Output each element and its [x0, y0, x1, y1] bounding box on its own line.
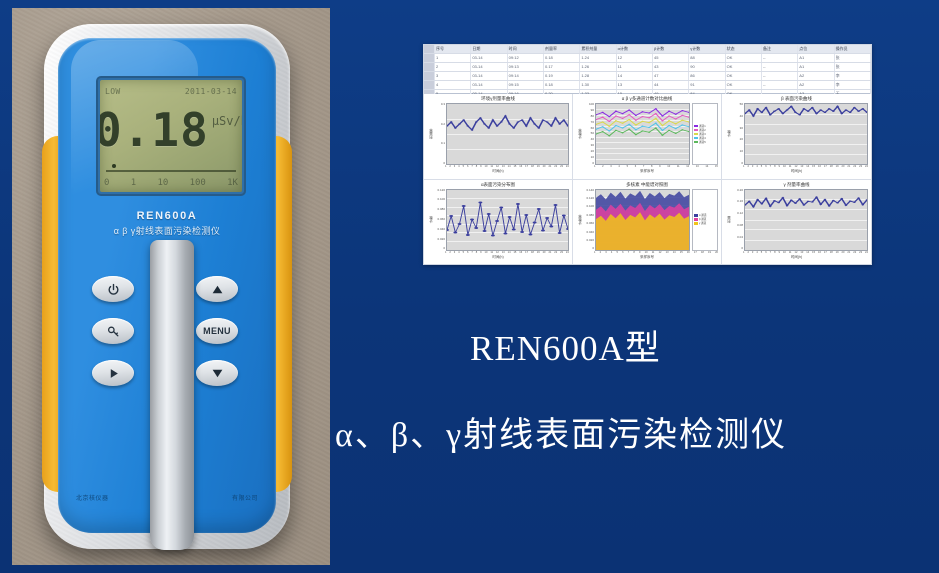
chart-x-tick: 13 [666, 251, 669, 255]
chart-title: 多核素 中能谱对照图 [576, 182, 718, 188]
device-footer-right: 有限公司 [232, 493, 258, 502]
chart-x-tick: 16 [687, 251, 690, 255]
chart-y-axis-label: 剂量 [725, 189, 731, 251]
lcd-status-left: LOW [105, 87, 121, 96]
chart-y-tick: 0.12 [737, 212, 743, 215]
chart-y-axis-label: 剂量率 [427, 103, 433, 165]
table-cell: -- [762, 63, 798, 71]
chart-x-tick: 9 [480, 251, 481, 255]
chart-x-tick: 3 [610, 165, 611, 169]
chart-x-tick: 15 [513, 251, 516, 255]
chart-x-tick: 21 [548, 251, 551, 255]
chart-x-tick: 18 [830, 165, 833, 169]
chart-y-tick: 10 [740, 150, 743, 153]
chart-y-tick: 0.3 [441, 103, 445, 106]
table-cell: 86 [689, 72, 725, 80]
lcd-status-right: 2011-03-14 [185, 87, 237, 96]
table-cell: 1.26 [580, 63, 616, 71]
chart-x-tick: 20 [543, 251, 546, 255]
keypad-column-right: MENU [186, 276, 248, 402]
table-cell: 09:14 [508, 72, 544, 80]
caption-description: α、β、γ射线表面污染检测仪 [335, 415, 935, 458]
chart-plot-area [595, 189, 690, 251]
arrow-down-icon [210, 367, 225, 380]
play-icon [107, 367, 120, 380]
chart-y-tick: 0.08 [737, 224, 743, 227]
chart-legend-label: α 通道 [699, 214, 706, 217]
chart-x-tick: 15 [812, 165, 815, 169]
table-column-header: 状态 [726, 45, 762, 53]
chart-x-tick: 14 [705, 165, 708, 169]
chart-y-ticks: 50403020100 [731, 103, 744, 165]
chart-x-tick: 7 [770, 165, 771, 169]
chart-x-tick: 14 [673, 251, 676, 255]
table-column-header: 时间 [508, 45, 544, 53]
chart-x-tick: 17 [525, 251, 528, 255]
chart-x-tick: 6 [765, 165, 766, 169]
chart-x-tick: 19 [836, 251, 839, 255]
chart-x-tick: 6 [622, 251, 623, 255]
chart-y-tick: 90 [591, 109, 594, 112]
table-row: 103-1409:120.181.24124588OK--A1张 [424, 54, 871, 63]
menu-button-label: MENU [203, 326, 231, 336]
chart-x-tick: 12 [795, 251, 798, 255]
device-label: REN600A α β γ射线表面污染检测仪 [58, 210, 276, 237]
chart-x-tick: 7 [770, 251, 771, 255]
chart-x-tick: 14 [806, 251, 809, 255]
chart-x-tick: 3 [752, 251, 753, 255]
chart-y-tick: 20 [591, 150, 594, 153]
chart-y-tick: 0.080 [437, 208, 445, 211]
lcd-bezel: LOW 2011-03-14 0.18 μSv/h 0 1 10 100 [96, 76, 246, 196]
chart-x-tick: 10 [667, 165, 670, 169]
chart-x-tick: 14 [508, 165, 511, 169]
table-cell: 11 [617, 63, 653, 71]
chart-x-tick: 12 [686, 165, 689, 169]
chart-legend-item: α 通道 [694, 214, 716, 217]
chart-legend-swatch [694, 218, 698, 221]
chart-x-tick: 24 [566, 165, 569, 169]
chart-x-tick: 12 [496, 251, 499, 255]
arrow-up-icon [210, 283, 225, 296]
table-column-header: 累积剂量 [580, 45, 616, 53]
chart-x-tick: 4 [611, 251, 612, 255]
lcd-unit: μSv/h [212, 114, 242, 128]
chart-y-tick: 0.020 [586, 239, 594, 242]
chart-x-tick: 2 [600, 251, 601, 255]
down-button[interactable] [196, 360, 238, 386]
chart-x-tick: 1 [743, 165, 744, 169]
table-cell: OK [726, 54, 762, 62]
chart-legend-item: β 通道 [694, 218, 716, 221]
table-cell: 03-14 [471, 72, 507, 80]
power-button[interactable] [92, 276, 134, 302]
table-cell: 0.19 [544, 72, 580, 80]
table-column-header: 日期 [471, 45, 507, 53]
chart-cell: β 表面污染曲线计数504030201001234567891011121314… [722, 94, 871, 180]
table-cell: OK [726, 63, 762, 71]
chart-x-tick: 22 [554, 251, 557, 255]
table-column-header: 剂量率 [544, 45, 580, 53]
chart-x-tick: 22 [853, 165, 856, 169]
chart-x-tick: 1 [445, 165, 446, 169]
table-cell: 09:15 [508, 81, 544, 89]
table-cell: 43 [653, 63, 689, 71]
table-cell: 44 [653, 81, 689, 89]
chart-x-tick: 12 [659, 251, 662, 255]
search-button[interactable] [92, 318, 134, 344]
table-column-header: β计数 [653, 45, 689, 53]
chart-y-tick: 0.060 [437, 218, 445, 221]
table-cell: 张 [835, 54, 871, 62]
chart-x-tick: 14 [508, 251, 511, 255]
chart-y-tick: 10 [591, 156, 594, 159]
table-cell: 09:12 [508, 54, 544, 62]
table-row: 203-1409:130.171.26114390OK--A1张 [424, 63, 871, 72]
chart-y-tick: 50 [591, 132, 594, 135]
chart-y-tick: 0.040 [586, 231, 594, 234]
chart-y-ticks: 0.30.20.10 [433, 103, 446, 165]
product-photo: LOW 2011-03-14 0.18 μSv/h 0 1 10 100 [12, 8, 330, 565]
chart-y-axis-label: 计数率 [576, 103, 582, 165]
chart-legend-label: 通道5 [699, 141, 706, 144]
table-cell: 1.28 [580, 72, 616, 80]
chart-x-tick: 19 [537, 251, 540, 255]
table-cell: 90 [689, 63, 725, 71]
menu-button[interactable]: MENU [196, 318, 238, 344]
chart-x-tick: 6 [635, 165, 636, 169]
chart-grid: 环境γ剂量率曲线剂量率0.30.20.101234567891011121314… [424, 94, 871, 265]
chart-x-tick: 15 [513, 165, 516, 169]
chart-y-tick: 60 [591, 127, 594, 130]
device-footer-left: 北京核仪器 [76, 493, 109, 502]
chart-x-tick: 7 [471, 251, 472, 255]
chart-x-tick: 1 [594, 251, 595, 255]
chart-x-tick: 23 [859, 251, 862, 255]
chart-x-tick: 5 [617, 251, 618, 255]
chart-x-tick: 23 [560, 165, 563, 169]
chart-cell: α β γ多通道计数对比曲线计数率1009080706050403020100通… [573, 94, 722, 180]
chart-x-tick: 1 [594, 165, 595, 169]
chart-x-tick: 10 [485, 251, 488, 255]
chart-y-tick: 0.1 [441, 142, 445, 145]
chart-x-tick: 3 [605, 251, 606, 255]
chart-x-tick: 5 [463, 165, 464, 169]
table-cell: 0.18 [544, 81, 580, 89]
chart-x-tick: 10 [485, 165, 488, 169]
chart-x-tick: 9 [779, 251, 780, 255]
chart-cell: 多核素 中能谱对照图计数率0.1400.1200.1000.0800.0600.… [573, 180, 722, 266]
chart-x-tick: 16 [519, 251, 522, 255]
chart-x-tick: 24 [865, 251, 868, 255]
lcd-bargraph-marker [112, 164, 116, 168]
chart-x-tick: 9 [779, 165, 780, 169]
chart-x-tick: 13 [696, 165, 699, 169]
lcd-scale-tick: 100 [190, 178, 206, 188]
chart-x-tick: 19 [708, 251, 711, 255]
chart-legend-swatch [694, 222, 698, 225]
chart-x-tick: 11 [490, 251, 493, 255]
chart-y-ticks: 0.1200.1000.0800.0600.0400.0200 [433, 189, 446, 251]
lcd-bargraph [106, 164, 236, 172]
chart-x-tick: 3 [454, 165, 455, 169]
table-cell: OK [726, 81, 762, 89]
chart-x-tick: 8 [774, 165, 775, 169]
table-column-header: 备注 [762, 45, 798, 53]
lcd-scale: 0 1 10 100 1K [104, 176, 238, 190]
chart-x-tick: 2 [747, 251, 748, 255]
play-button[interactable] [92, 360, 134, 386]
chart-legend-swatch [694, 133, 698, 136]
chart-x-tick: 16 [519, 165, 522, 169]
chart-legend-item: 通道2 [694, 129, 716, 132]
chart-x-tick: 2 [449, 251, 450, 255]
chart-x-tick: 6 [467, 251, 468, 255]
chart-legend-swatch [694, 129, 698, 132]
chart-legend: 通道1通道2通道3通道4通道5 [692, 103, 718, 165]
chart-x-tick: 7 [471, 165, 472, 169]
chart-x-tick: 8 [633, 251, 634, 255]
table-cell: 13 [617, 81, 653, 89]
chart-x-tick: 4 [458, 165, 459, 169]
chart-legend-swatch [694, 137, 698, 140]
lcd-reading: 0.18 μSv/h [100, 100, 242, 160]
chart-x-tick: 21 [847, 165, 850, 169]
lcd-value: 0.18 [100, 107, 209, 153]
chart-x-tick: 5 [627, 165, 628, 169]
chart-x-tick: 9 [659, 165, 660, 169]
chart-x-tick: 16 [818, 251, 821, 255]
chart-x-tick: 13 [800, 251, 803, 255]
chart-title: α表面污染分布图 [427, 182, 569, 188]
chart-x-tick: 8 [476, 251, 477, 255]
chart-y-axis-label: 计数 [427, 189, 433, 251]
table-cell: A1 [798, 54, 834, 62]
slide-canvas: LOW 2011-03-14 0.18 μSv/h 0 1 10 100 [0, 0, 939, 573]
chart-x-tick: 14 [806, 165, 809, 169]
chart-plot-area [446, 103, 569, 165]
chart-x-tick: 17 [824, 165, 827, 169]
chart-x-tick: 18 [830, 251, 833, 255]
chart-x-tick: 15 [812, 251, 815, 255]
chart-x-tick: 20 [842, 165, 845, 169]
chart-x-tick: 3 [454, 251, 455, 255]
table-cell: 09:13 [508, 63, 544, 71]
chart-x-tick: 18 [531, 165, 534, 169]
chart-x-tick: 10 [783, 165, 786, 169]
chart-y-ticks: 0.200.160.120.080.040 [731, 189, 744, 251]
table-cell: A2 [798, 72, 834, 80]
chart-y-tick: 30 [591, 144, 594, 147]
chart-legend-swatch [694, 214, 698, 217]
lcd-status-bar: LOW 2011-03-14 [105, 84, 237, 98]
table-cell: 1.30 [580, 81, 616, 89]
chart-plot-area [446, 189, 569, 251]
table-cell: 2 [435, 63, 471, 71]
chart-y-tick: 0.16 [737, 200, 743, 203]
table-row: 303-1409:140.191.28144786OK--A2李 [424, 72, 871, 81]
chart-y-tick: 40 [591, 138, 594, 141]
chart-y-ticks: 1009080706050403020100 [582, 103, 595, 165]
chart-y-tick: 50 [740, 103, 743, 106]
chart-x-axis-label: 采样序号 [576, 169, 718, 174]
chart-plot-area [744, 189, 868, 251]
table-cell: 03-14 [471, 54, 507, 62]
chart-x-tick: 2 [602, 165, 603, 169]
chart-x-tick: 15 [680, 251, 683, 255]
lcd-scale-tick: 10 [157, 178, 168, 188]
software-screenshot: 序号日期时间剂量率累积剂量α计数β计数γ计数状态备注点位操作员103-1409:… [423, 44, 872, 265]
lcd-scale-tick: 1 [131, 178, 136, 188]
table-cell: 12 [617, 54, 653, 62]
chart-y-tick: 0.080 [586, 214, 594, 217]
table-cell: 1 [435, 54, 471, 62]
table-column-header: α计数 [617, 45, 653, 53]
chart-x-tick: 5 [761, 251, 762, 255]
lcd-scale-tick: 0 [104, 178, 109, 188]
chart-x-tick: 1 [743, 251, 744, 255]
chart-x-tick: 23 [859, 165, 862, 169]
chart-x-tick: 15 [715, 165, 718, 169]
chart-x-axis-label: 时间(h) [427, 169, 569, 174]
chart-x-tick: 23 [560, 251, 563, 255]
table-cell: 1.24 [580, 54, 616, 62]
chart-y-tick: 0.060 [586, 222, 594, 225]
table-row: 403-1409:150.181.30134491OK--A2李 [424, 81, 871, 90]
power-icon [107, 283, 120, 296]
chart-x-tick: 10 [783, 251, 786, 255]
chart-y-tick: 80 [591, 115, 594, 118]
table-cell: 91 [689, 81, 725, 89]
table-column-header: γ计数 [689, 45, 725, 53]
table-cell: 李 [835, 72, 871, 80]
table-row-header [424, 45, 435, 53]
chart-x-tick: 9 [480, 165, 481, 169]
chart-x-tick: 4 [458, 251, 459, 255]
chart-y-tick: 40 [740, 115, 743, 118]
chart-x-tick: 11 [789, 251, 792, 255]
chart-y-axis-label: 计数 [725, 103, 731, 165]
table-column-header: 点位 [798, 45, 834, 53]
chart-x-axis-label: 时间(h) [725, 169, 868, 174]
chart-y-tick: 0.120 [437, 189, 445, 192]
chart-x-tick: 3 [752, 165, 753, 169]
chart-x-tick: 21 [548, 165, 551, 169]
chart-plot-area [595, 103, 690, 165]
table-cell: 03-14 [471, 81, 507, 89]
chart-x-tick: 8 [476, 165, 477, 169]
chart-y-tick: 0.100 [437, 198, 445, 201]
chart-x-tick: 9 [639, 251, 640, 255]
chart-legend-item: 通道1 [694, 125, 716, 128]
chart-y-tick: 0.140 [586, 189, 594, 192]
table-cell: 88 [689, 54, 725, 62]
lcd-scale-tick: 1K [227, 178, 238, 188]
chart-y-tick: 0.020 [437, 238, 445, 241]
chart-title: γ 剂量率曲线 [725, 182, 868, 188]
chart-x-tick: 2 [449, 165, 450, 169]
chart-y-ticks: 0.1400.1200.1000.0800.0600.0400.0200 [582, 189, 595, 251]
chart-x-tick: 2 [747, 165, 748, 169]
chart-x-tick: 24 [865, 165, 868, 169]
chart-y-axis-label: 计数率 [576, 189, 582, 251]
chart-x-tick: 6 [765, 251, 766, 255]
chart-x-axis-label: 采样序号 [576, 255, 718, 260]
chart-x-tick: 4 [756, 251, 757, 255]
table-cell: 0.17 [544, 63, 580, 71]
chart-x-tick: 11 [677, 165, 680, 169]
chart-x-tick: 18 [701, 251, 704, 255]
chart-x-tick: 19 [537, 165, 540, 169]
chart-legend-swatch [694, 141, 698, 144]
chart-legend-label: 通道3 [699, 133, 706, 136]
up-button[interactable] [196, 276, 238, 302]
chart-x-axis-label: 时间(h) [725, 255, 868, 260]
chart-x-tick: 17 [694, 251, 697, 255]
chart-x-tick: 16 [818, 165, 821, 169]
chart-y-tick: 70 [591, 121, 594, 124]
table-cell: -- [762, 81, 798, 89]
table-row-header [424, 54, 435, 62]
chart-x-tick: 4 [618, 165, 619, 169]
chart-y-tick: 20 [740, 138, 743, 141]
caption-model: REN600A型 [470, 330, 900, 369]
keypad-column-left [82, 276, 144, 402]
chart-legend-label: γ 通道 [699, 222, 706, 225]
table-cell: 47 [653, 72, 689, 80]
chart-x-tick: 10 [645, 251, 648, 255]
chart-plot-area [744, 103, 868, 165]
chart-x-tick: 5 [761, 165, 762, 169]
chart-x-tick: 17 [525, 165, 528, 169]
chart-x-tick: 5 [463, 251, 464, 255]
chart-y-tick: 0.20 [737, 189, 743, 192]
table-cell: 3 [435, 72, 471, 80]
table-header-row: 序号日期时间剂量率累积剂量α计数β计数γ计数状态备注点位操作员 [424, 45, 871, 54]
chart-y-tick: 100 [589, 103, 594, 106]
chart-x-tick: 18 [531, 251, 534, 255]
chart-x-tick: 6 [467, 165, 468, 169]
chart-x-tick: 20 [842, 251, 845, 255]
table-cell: 03-14 [471, 63, 507, 71]
chart-x-tick: 21 [847, 251, 850, 255]
lcd-screen: LOW 2011-03-14 0.18 μSv/h 0 1 10 100 [100, 80, 242, 192]
table-cell: 张 [835, 63, 871, 71]
chart-x-tick: 19 [836, 165, 839, 169]
table-cell: -- [762, 54, 798, 62]
chart-x-tick: 22 [554, 165, 557, 169]
chart-cell: α表面污染分布图计数0.1200.1000.0800.0600.0400.020… [424, 180, 573, 266]
chart-x-tick: 8 [774, 251, 775, 255]
chart-y-tick: 30 [740, 127, 743, 130]
table-cell: 李 [835, 81, 871, 89]
chart-legend-label: 通道1 [699, 125, 706, 128]
table-column-header: 序号 [435, 45, 471, 53]
chart-x-tick: 13 [502, 251, 505, 255]
table-row-header [424, 81, 435, 89]
chart-y-tick: 0.04 [737, 236, 743, 239]
table-cell: A2 [798, 81, 834, 89]
device-hand-strap [150, 240, 194, 550]
chart-title: β 表面污染曲线 [725, 96, 868, 102]
chart-x-tick: 22 [853, 251, 856, 255]
table-column-header: 操作员 [835, 45, 871, 53]
table-cell: 0.18 [544, 54, 580, 62]
chart-legend: α 通道β 通道γ 通道 [692, 189, 718, 251]
chart-legend-label: β 通道 [699, 218, 706, 221]
key-icon [106, 325, 121, 338]
table-row-header [424, 72, 435, 80]
